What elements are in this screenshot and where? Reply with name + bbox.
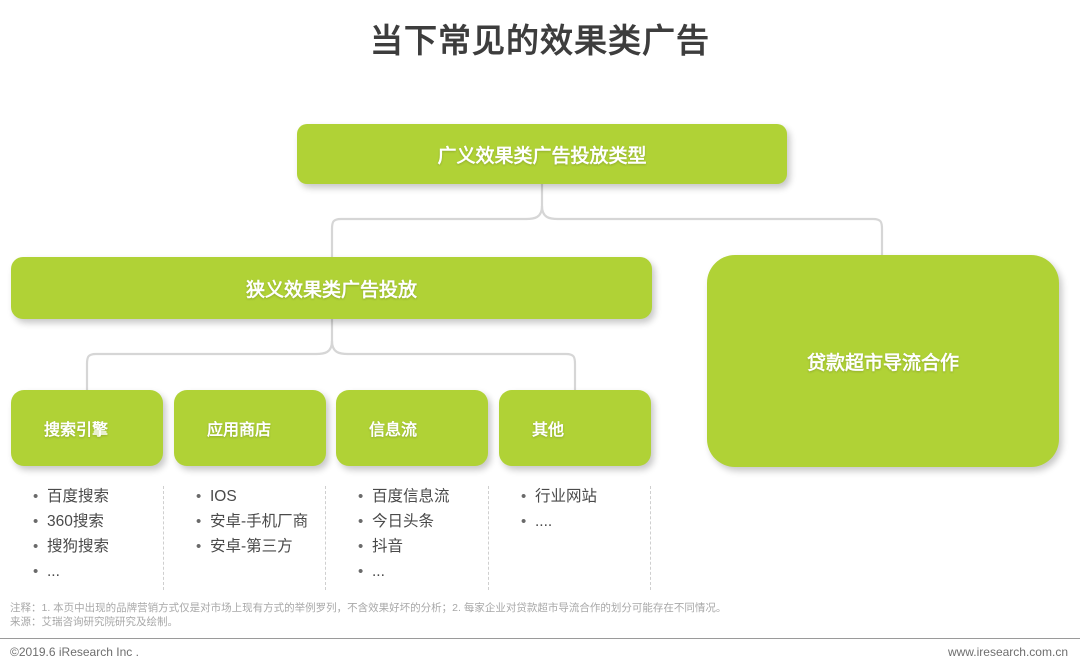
bullet-dot-icon: • <box>358 484 372 509</box>
node-leaf-other[interactable]: 其他 <box>499 390 651 466</box>
node-leaf-feed[interactable]: 信息流 <box>336 390 488 466</box>
bullet-item-label: 360搜索 <box>47 509 104 534</box>
node-leaf-search-engine-label: 搜索引擎 <box>44 416 108 440</box>
bullet-lists: •百度搜索•360搜索•搜狗搜索•... •IOS•安卓-手机厂商•安卓-第三方… <box>11 484 671 594</box>
node-root-label: 广义效果类广告投放类型 <box>437 141 646 168</box>
footnotes: 注释：1. 本页中出现的品牌营销方式仅是对市场上现有方式的举例罗列，不含效果好坏… <box>10 601 1070 629</box>
bullet-item: •搜狗搜索 <box>33 534 183 559</box>
bullet-item-label: 安卓-手机厂商 <box>210 509 308 534</box>
bullet-item-label: ... <box>372 559 385 584</box>
bullet-item: •安卓-第三方 <box>196 534 346 559</box>
bullet-item: •百度搜索 <box>33 484 183 509</box>
bullet-item: •抖音 <box>358 534 508 559</box>
bullet-dot-icon: • <box>358 534 372 559</box>
bullet-dot-icon: • <box>521 484 535 509</box>
bullet-item: •安卓-手机厂商 <box>196 509 346 534</box>
node-loan-supermarket[interactable]: 贷款超市导流合作 <box>707 255 1059 467</box>
footnote-line-2: 来源：艾瑞咨询研究院研究及绘制。 <box>10 615 1070 629</box>
bullet-item: •... <box>33 559 183 584</box>
node-leaf-app-store[interactable]: 应用商店 <box>174 390 326 466</box>
bullet-item-label: .... <box>535 509 552 534</box>
bullet-item: •今日头条 <box>358 509 508 534</box>
node-leaf-search-engine[interactable]: 搜索引擎 <box>11 390 163 466</box>
bullet-column-feed: •百度信息流•今日头条•抖音•... <box>358 484 508 584</box>
node-narrow-label: 狭义效果类广告投放 <box>246 275 417 302</box>
connector-root-bracket-right <box>542 206 882 255</box>
bullet-item-label: IOS <box>210 484 237 509</box>
bullet-item-label: 搜狗搜索 <box>47 534 109 559</box>
slide-page: 当下常见的效果类广告 广义效果类广告投放类型 狭义效果类广告投放 贷款超市导流合… <box>0 0 1080 670</box>
node-loan-label: 贷款超市导流合作 <box>807 348 959 375</box>
bullet-item-label: 今日头条 <box>372 509 434 534</box>
bullet-dot-icon: • <box>33 509 47 534</box>
bullet-dot-icon: • <box>33 534 47 559</box>
bullet-item-label: 百度搜索 <box>47 484 109 509</box>
bullet-column-other: •行业网站•.... <box>521 484 671 534</box>
node-narrow-performance-ads[interactable]: 狭义效果类广告投放 <box>11 257 652 319</box>
connector-root-bracket <box>332 206 542 257</box>
bullet-item: •... <box>358 559 508 584</box>
bullet-item: •.... <box>521 509 671 534</box>
bullet-dot-icon: • <box>521 509 535 534</box>
bullet-item-label: ... <box>47 559 60 584</box>
bullet-dot-icon: • <box>358 509 372 534</box>
bullet-item-label: 抖音 <box>372 534 403 559</box>
bullet-dot-icon: • <box>196 534 210 559</box>
footer-website[interactable]: www.iresearch.com.cn <box>948 645 1068 659</box>
bullet-item-label: 行业网站 <box>535 484 597 509</box>
footer-divider <box>0 638 1080 639</box>
node-root[interactable]: 广义效果类广告投放类型 <box>297 124 787 184</box>
footnote-line-1: 注释：1. 本页中出现的品牌营销方式仅是对市场上现有方式的举例罗列，不含效果好坏… <box>10 601 1070 615</box>
bullet-dot-icon: • <box>358 559 372 584</box>
connector-narrow-bracket-left <box>87 341 332 390</box>
bullet-dot-icon: • <box>33 484 47 509</box>
bullet-item: •360搜索 <box>33 509 183 534</box>
bullet-column-app-store: •IOS•安卓-手机厂商•安卓-第三方 <box>196 484 346 559</box>
connector-narrow-bracket-right <box>332 341 575 390</box>
bullet-column-search-engine: •百度搜索•360搜索•搜狗搜索•... <box>33 484 183 584</box>
bullet-item: •行业网站 <box>521 484 671 509</box>
bullet-item: •百度信息流 <box>358 484 508 509</box>
bullet-item-label: 安卓-第三方 <box>210 534 293 559</box>
bullet-dot-icon: • <box>196 484 210 509</box>
bullet-item: •IOS <box>196 484 346 509</box>
page-title: 当下常见的效果类广告 <box>0 14 1080 62</box>
footer-copyright: ©2019.6 iResearch Inc . <box>10 645 139 659</box>
node-leaf-feed-label: 信息流 <box>369 416 417 440</box>
bullet-dot-icon: • <box>33 559 47 584</box>
bullet-item-label: 百度信息流 <box>372 484 450 509</box>
node-leaf-other-label: 其他 <box>532 416 564 440</box>
footer: ©2019.6 iResearch Inc . www.iresearch.co… <box>0 645 1080 670</box>
node-leaf-app-store-label: 应用商店 <box>207 416 271 440</box>
bullet-dot-icon: • <box>196 509 210 534</box>
